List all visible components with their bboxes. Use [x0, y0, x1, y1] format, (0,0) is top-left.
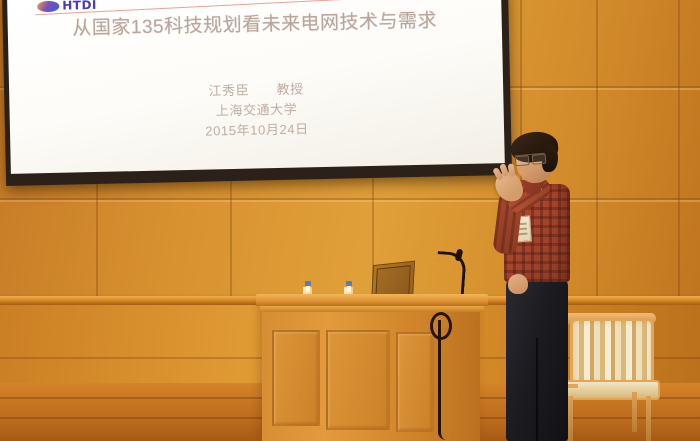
presenter-legs: [506, 278, 568, 441]
hanging-cable: [438, 320, 450, 440]
lectern-panel-right: [396, 332, 434, 432]
eyeglasses-icon: [515, 153, 546, 165]
projection-screen: HTDI 从国家135科技规划看未来电网技术与需求 江秀臣 教授 上海交通大学 …: [2, 0, 512, 186]
lectern-top-surface: [256, 294, 488, 306]
bottle-neck: [306, 286, 310, 292]
lens-left: [515, 155, 530, 166]
bottle-cap: [305, 281, 311, 286]
wall-seam-vertical-1: [96, 170, 98, 302]
htdi-emblem-icon: [37, 0, 59, 11]
lectern-panel-center: [326, 330, 390, 430]
bottle-neck: [347, 286, 351, 292]
bottle-cap: [346, 281, 352, 286]
slide-byline: 江秀臣 教授 上海交通大学 2015年10月24日: [9, 75, 504, 146]
lens-right: [532, 154, 547, 165]
presenter-resting-hand: [508, 274, 528, 294]
presentation-photo-scene: HTDI 从国家135科技规划看未来电网技术与需求 江秀臣 教授 上海交通大学 …: [0, 0, 700, 441]
slide-surface: HTDI 从国家135科技规划看未来电网技术与需求 江秀臣 教授 上海交通大学 …: [7, 0, 505, 174]
finger-3: [508, 163, 516, 177]
presenter: [490, 132, 600, 441]
lectern-front-lip: [260, 306, 484, 312]
chair-leg-rear: [632, 392, 637, 432]
lectern-panel-left: [272, 330, 320, 426]
trouser-seam: [536, 338, 538, 441]
wooden-lectern: [262, 304, 480, 441]
wall-seam-vertical-6: [678, 0, 680, 302]
chair-leg-front-right: [646, 396, 651, 441]
